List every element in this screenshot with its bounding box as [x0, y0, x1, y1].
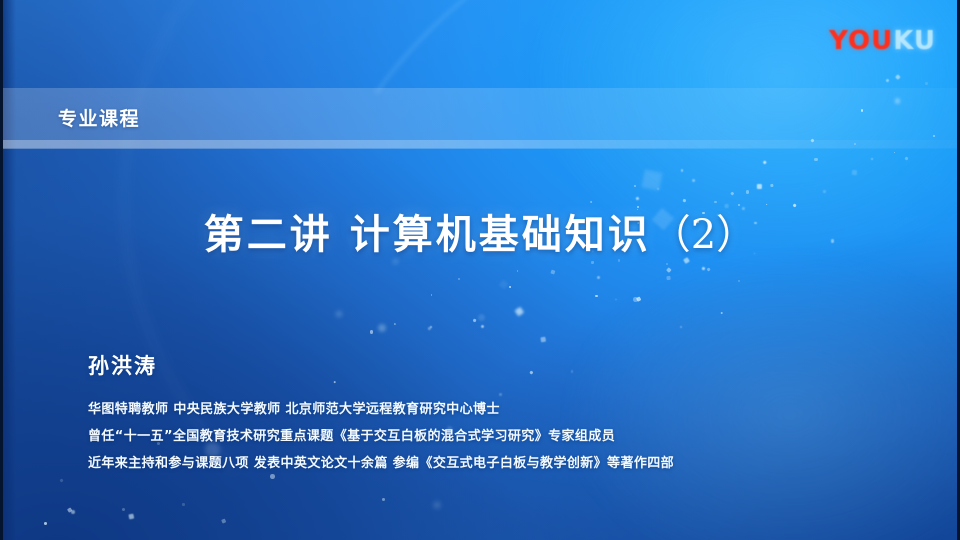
slide-title: 第二讲 计算机基础知识（2）: [0, 202, 960, 260]
presenter-bio-line: 华图特聘教师 中央民族大学教师 北京师范大学远程教育研究中心博士: [88, 396, 908, 423]
slide-title-main: 第二讲 计算机基础知识: [204, 211, 651, 258]
presenter-bio-line: 近年来主持和参与课题八项 发表中英文论文十余篇 参编《交互式电子白板与教学创新》…: [88, 450, 908, 477]
category-label: 专业课程: [58, 104, 140, 131]
slide-canvas: 专业课程 YOUKU 第二讲 计算机基础知识（2） 孙洪涛 华图特聘教师 中央民…: [0, 0, 960, 540]
glow-center-right: [560, 250, 960, 540]
youku-logo-primary: YOU: [829, 26, 893, 56]
presenter-bio-line: 曾任“十一五”全国教育技术研究重点课题《基于交互白板的混合式学习研究》专家组成员: [88, 423, 908, 450]
category-band: [0, 88, 960, 148]
category-band-underline: [0, 140, 960, 149]
slide-title-suffix: （2）: [651, 212, 756, 258]
presenter-name: 孙洪涛: [88, 350, 157, 380]
youku-logo: YOUKU: [829, 28, 936, 54]
youku-logo-secondary: KU: [893, 26, 936, 56]
presenter-bio: 华图特聘教师 中央民族大学教师 北京师范大学远程教育研究中心博士 曾任“十一五”…: [88, 396, 908, 477]
letterbox-left: [0, 0, 3, 540]
